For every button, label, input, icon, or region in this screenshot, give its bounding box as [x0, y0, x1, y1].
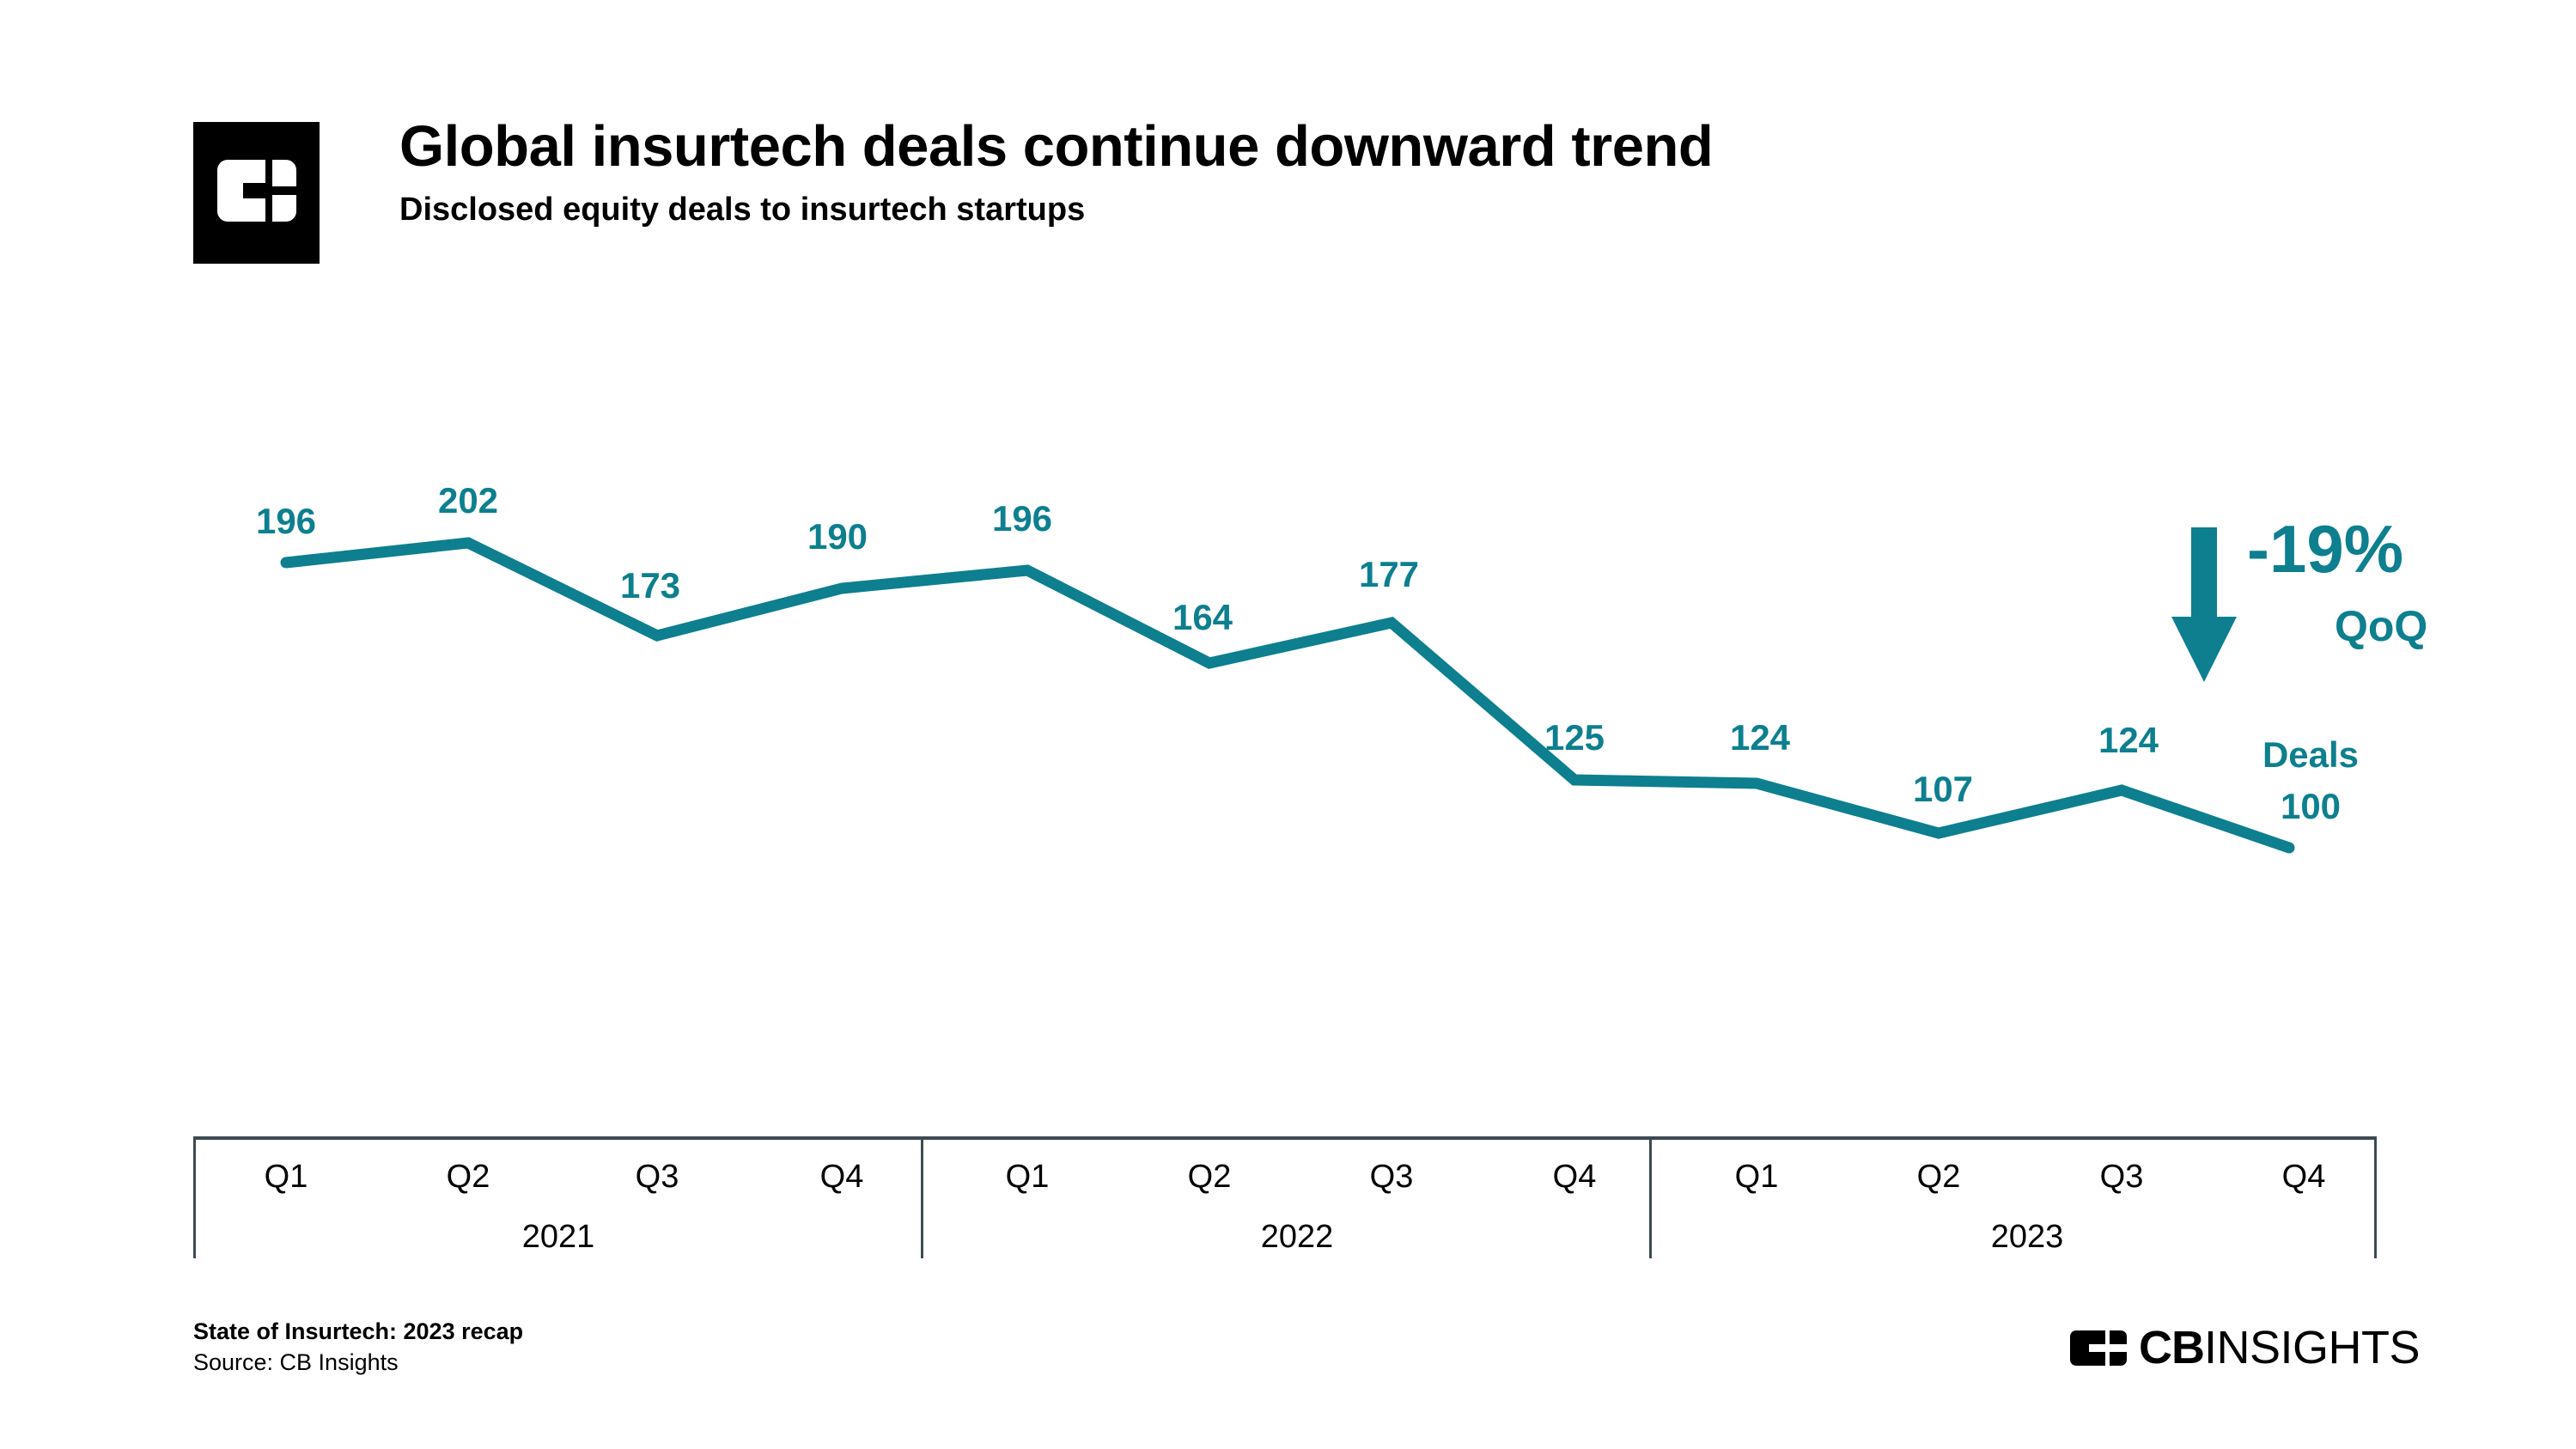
- data-label-q3-2022: 177: [1359, 554, 1419, 595]
- series-label-deals: Deals: [2262, 734, 2359, 776]
- axis-tick-q3-2023: Q3: [2100, 1159, 2144, 1196]
- data-label-q2-2021: 202: [438, 480, 498, 521]
- data-label-q4-2023: 100: [2281, 786, 2341, 827]
- axis-tick-q3-2022: Q3: [1370, 1159, 1414, 1196]
- qoq-period: QoQ: [2335, 605, 2427, 648]
- cb-insights-mark-small-icon: [2070, 1330, 2127, 1366]
- page-subtitle: Disclosed equity deals to insurtech star…: [399, 192, 1713, 228]
- qoq-callout: -19% QoQ: [2171, 515, 2489, 696]
- axis-tick-q4-2021: Q4: [820, 1159, 864, 1196]
- axis-tick-q3-2021: Q3: [636, 1159, 679, 1196]
- footer-notes: State of Insurtech: 2023 recap Source: C…: [193, 1317, 523, 1378]
- source-note: Source: CB Insights: [193, 1348, 523, 1379]
- axis-divider-2022-2023: [1649, 1136, 1652, 1258]
- axis-divider-2021-2022: [921, 1136, 923, 1258]
- axis-tick-q1-2022: Q1: [1006, 1159, 1050, 1196]
- axis-tick-q2-2021: Q2: [447, 1159, 490, 1196]
- deals-series-line: [286, 543, 2289, 848]
- axis-year-2022: 2022: [1261, 1219, 1334, 1256]
- data-label-q1-2023: 124: [1730, 717, 1790, 758]
- data-label-q4-2022: 125: [1544, 717, 1605, 758]
- page-title: Global insurtech deals continue downward…: [399, 115, 1713, 179]
- axis-tick-q1-2021: Q1: [265, 1159, 308, 1196]
- axis-rule: [193, 1136, 2377, 1140]
- cb-insights-mark-icon: [193, 122, 320, 264]
- axis-tick-q2-2023: Q2: [1917, 1159, 1961, 1196]
- data-label-q1-2022: 196: [992, 498, 1052, 539]
- data-label-q4-2021: 190: [807, 516, 868, 557]
- axis-tick-q2-2022: Q2: [1188, 1159, 1232, 1196]
- title-block: Global insurtech deals continue downward…: [399, 115, 1713, 228]
- wordmark-insights: INSIGHTS: [2204, 1324, 2420, 1371]
- axis-tick-q4-2023: Q4: [2282, 1159, 2326, 1196]
- axis-divider-end: [2374, 1136, 2377, 1258]
- qoq-percent: -19%: [2247, 515, 2403, 582]
- data-label-q2-2022: 164: [1172, 597, 1233, 638]
- axis-year-2021: 2021: [522, 1219, 595, 1256]
- axis-tick-q1-2023: Q1: [1735, 1159, 1779, 1196]
- wordmark-cb: CB: [2139, 1324, 2204, 1371]
- report-name: State of Insurtech: 2023 recap: [193, 1317, 523, 1348]
- data-label-q3-2023: 124: [2098, 720, 2159, 761]
- arrow-down-icon: [2171, 527, 2237, 682]
- axis-year-2023: 2023: [1991, 1219, 2064, 1256]
- data-label-q3-2021: 173: [620, 565, 680, 606]
- chart-header: Global insurtech deals continue downward…: [193, 122, 2392, 294]
- axis-divider-start: [193, 1136, 196, 1258]
- cb-insights-wordmark: CB INSIGHTS: [2070, 1324, 2420, 1371]
- axis-tick-q4-2022: Q4: [1553, 1159, 1597, 1196]
- x-axis: Q1 Q2 Q3 Q4 Q1 Q2 Q3 Q4 Q1 Q2 Q3 Q4 2021…: [193, 1136, 2377, 1261]
- data-label-q2-2023: 107: [1913, 769, 1973, 810]
- data-label-q1-2021: 196: [256, 501, 316, 542]
